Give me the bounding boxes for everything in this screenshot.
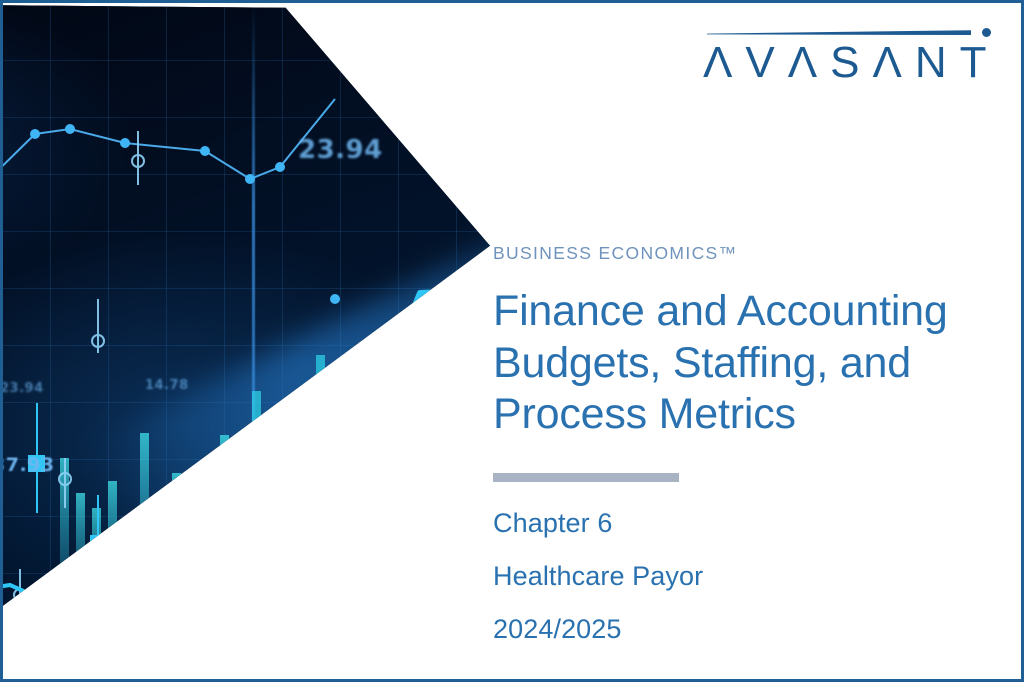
logo-rule (703, 23, 991, 41)
logo-dot-icon (982, 28, 991, 37)
cover-page: 23.94 23.94 37.93 18.34 14.78 ΛVΛSΛNT BU… (0, 0, 1024, 682)
artwork-value-secondary: 23.94 (3, 381, 44, 396)
artwork-line-lower (3, 585, 200, 631)
title-line-3: Process Metrics (493, 389, 1003, 441)
artwork-line-upper-points (3, 124, 340, 502)
chapter-label: Chapter 6 (493, 510, 1003, 537)
artwork-background (3, 3, 490, 682)
artwork-candle-markers (3, 131, 406, 631)
title-line-2: Budgets, Staffing, and (493, 338, 1003, 390)
title-divider (493, 473, 679, 482)
series-eyebrow: BUSINESS ECONOMICS™ (493, 243, 1003, 264)
cover-artwork: 23.94 23.94 37.93 18.34 14.78 (3, 3, 503, 682)
edition-label: 2024/2025 (493, 616, 1003, 643)
title-line-1: Finance and Accounting (493, 286, 1003, 338)
artwork-bubbles (3, 434, 462, 635)
artwork-grid-lines (3, 3, 490, 682)
artwork-square-markers (28, 455, 107, 552)
logo-wordmark: ΛVΛSΛNT (703, 41, 993, 85)
logo-tapered-line-icon (703, 23, 991, 41)
avasant-logo: ΛVΛSΛNT (703, 23, 993, 85)
artwork-glow-band (87, 179, 490, 577)
artwork-value-tertiary: 37.93 (3, 454, 55, 476)
artwork-line-main (3, 291, 470, 682)
artwork-diamond-clip: 23.94 23.94 37.93 18.34 14.78 (3, 3, 490, 682)
cover-content: BUSINESS ECONOMICS™ Finance and Accounti… (493, 243, 1003, 643)
page-title: Finance and Accounting Budgets, Staffing… (493, 286, 1003, 441)
segment-label: Healthcare Payor (493, 563, 1003, 590)
artwork-value-quinary: 14.78 (145, 378, 189, 393)
artwork-value-primary: 23.94 (298, 135, 383, 165)
artwork-ribbon (90, 461, 490, 682)
artwork-line-upper (3, 99, 335, 497)
artwork-line-main-points (18, 336, 407, 650)
artwork-chart-svg (3, 3, 490, 682)
artwork-marker-stems (37, 403, 98, 603)
artwork-volume-bars (60, 355, 437, 603)
artwork-vertical-beam (252, 3, 255, 682)
